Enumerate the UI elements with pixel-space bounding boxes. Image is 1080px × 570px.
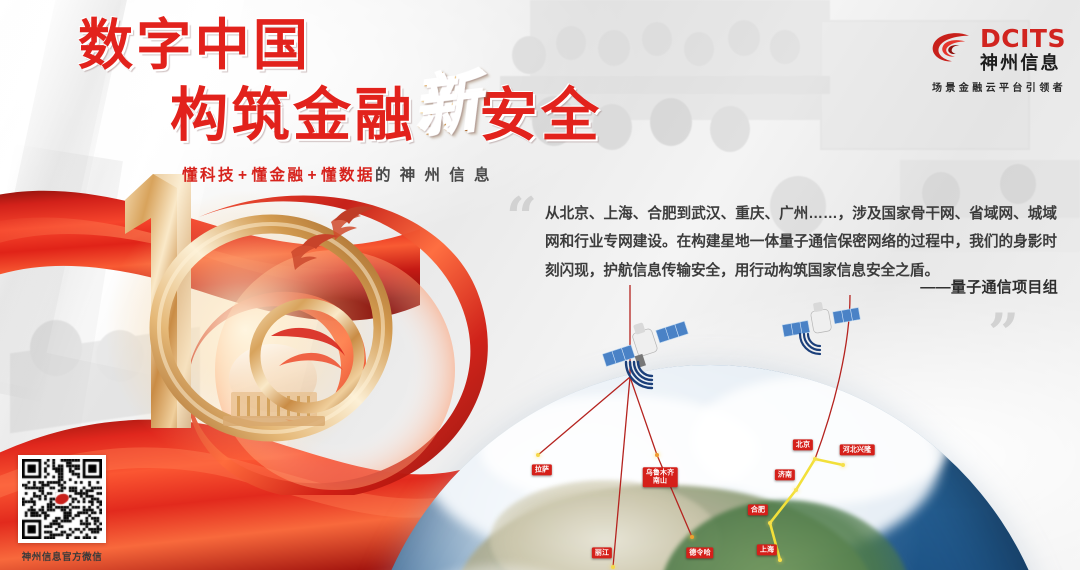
qr-canvas <box>22 459 102 539</box>
city-node-shanghai <box>778 558 782 562</box>
wechat-qr-code[interactable] <box>18 455 106 543</box>
city-label-xinglong: 河北兴隆 <box>840 444 875 455</box>
city-label-delingha: 德令哈 <box>686 547 713 558</box>
dove-icon-1 <box>300 230 340 254</box>
subtitle-part-0: 懂科技 <box>182 167 236 184</box>
city-node-lasa <box>536 453 540 457</box>
city-node-jinan <box>794 488 798 492</box>
subtitle-plus-1: + <box>236 167 252 184</box>
headline-line-1: 数字中国 <box>78 18 658 73</box>
city-node-lijiang <box>611 565 615 569</box>
poster-canvas: 数字中国 构筑金融新安全 懂科技+懂金融+懂数据的 神 州 信 息 DCITS … <box>0 0 1080 570</box>
city-label-lijiang: 丽江 <box>592 547 612 558</box>
quote-open-mark: “ <box>506 190 537 244</box>
city-node-xinglong <box>841 463 845 467</box>
logo-text-en: DCITS <box>980 26 1066 51</box>
city-label-jinan: 济南 <box>775 469 795 480</box>
city-node-delingha <box>690 535 694 539</box>
city-label-beijing: 北京 <box>793 439 813 450</box>
city-label-urumqi: 乌鲁木齐 南山 <box>643 467 678 487</box>
quote-text: 从北京、上海、合肥到武汉、重庆、广州……，涉及国家骨干网、省域网、城域网和行业专… <box>545 200 1057 285</box>
logo-tagline: 场景金融云平台引领者 <box>931 79 1066 94</box>
dove-icon-2 <box>332 203 376 229</box>
subtitle-tail: 的 神 州 信 息 <box>375 167 492 184</box>
city-node-hefei <box>768 521 772 525</box>
subtitle: 懂科技+懂金融+懂数据的 神 州 信 息 <box>182 163 492 185</box>
satellite-right-icon <box>778 300 868 374</box>
headline: 数字中国 构筑金融新安全 <box>78 18 658 146</box>
city-node-beijing <box>813 457 817 461</box>
subtitle-plus-2: + <box>305 167 321 184</box>
quote-attribution: ——量子通信项目组 <box>920 276 1058 297</box>
qr-caption: 神州信息官方微信 <box>8 549 116 563</box>
quote-close-mark: ” <box>988 306 1019 360</box>
brand-logo[interactable]: DCITS 神州信息 场景金融云平台引领者 <box>931 26 1066 94</box>
headline-gold-char: 新 <box>409 68 486 142</box>
satellite-left-icon <box>600 312 696 396</box>
city-label-hefei: 合肥 <box>748 504 768 515</box>
headline-line2-part-b: 安全 <box>479 81 602 149</box>
logo-text-cn: 神州信息 <box>980 54 1066 72</box>
subtitle-part-2: 懂金融 <box>252 167 306 184</box>
quantum-network-links <box>330 355 1080 570</box>
city-node-urumqi <box>655 453 659 457</box>
dcits-swoosh-icon <box>931 32 973 66</box>
headline-line-2: 构筑金融新安全 <box>170 80 658 146</box>
city-label-lasa: 拉萨 <box>532 464 552 475</box>
city-label-shanghai: 上海 <box>757 544 777 555</box>
subtitle-part-4: 懂数据 <box>321 167 375 184</box>
headline-line2-part-a: 构筑金融 <box>170 81 416 149</box>
globe-illustration: 拉萨 乌鲁木齐 南山 丽江 德令哈 北京 河北兴隆 济南 合肥 上海 <box>330 355 1080 570</box>
